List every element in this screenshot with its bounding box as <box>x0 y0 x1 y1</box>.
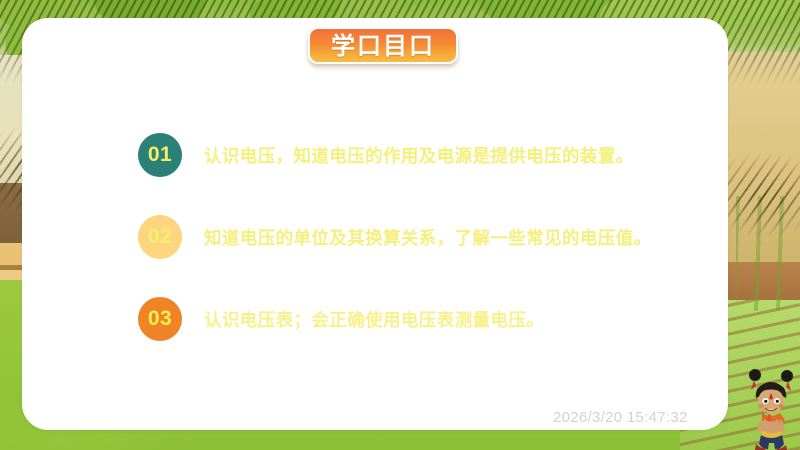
goal-number: 02 <box>148 225 172 249</box>
list-item: 03 认识电压表；会正确使用电压表测量电压。 <box>138 292 698 346</box>
list-item: 02 知道电压的单位及其换算关系，了解一些常见的电压值。 <box>138 210 698 264</box>
goal-number: 03 <box>148 307 172 331</box>
slide-stage: 学口目口 01 认识电压，知道电压的作用及电源是提供电压的装置。 02 知道电压… <box>0 0 800 450</box>
goal-number: 01 <box>148 143 172 167</box>
timestamp-watermark: 2026/3/20 15:47:32 <box>553 409 688 426</box>
list-item: 01 认识电压，知道电压的作用及电源是提供电压的装置。 <box>138 128 698 182</box>
nezha-mascot-icon <box>742 362 800 450</box>
page-title: 学口目口 <box>331 34 435 58</box>
goal-text: 认识电压表；会正确使用电压表测量电压。 <box>204 307 544 332</box>
goal-text: 认识电压，知道电压的作用及电源是提供电压的装置。 <box>204 143 634 168</box>
goal-badge-03: 03 <box>138 297 182 341</box>
goal-badge-01: 01 <box>138 133 182 177</box>
slide-title-pill: 学口目口 <box>308 27 458 64</box>
goal-badge-02: 02 <box>138 215 182 259</box>
learning-goals-list: 01 认识电压，知道电压的作用及电源是提供电压的装置。 02 知道电压的单位及其… <box>138 128 698 374</box>
goal-text: 知道电压的单位及其换算关系，了解一些常见的电压值。 <box>204 225 652 250</box>
